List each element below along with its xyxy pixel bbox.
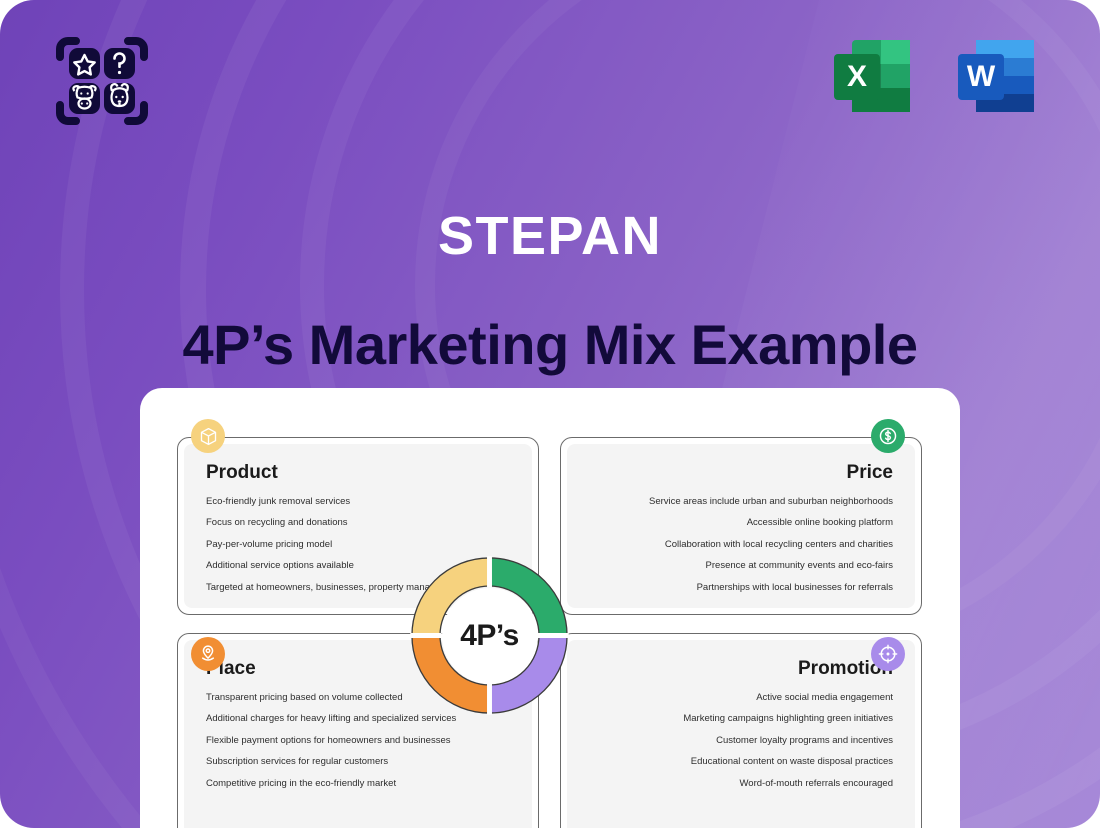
svg-text:W: W [967,60,996,93]
package-box-icon[interactable] [191,419,225,453]
list-item: Marketing campaigns highlighting green i… [589,713,893,725]
quadrant-list-price: Service areas include urban and suburban… [589,496,893,593]
list-item: Collaboration with local recycling cente… [589,539,893,551]
dollar-coin-icon[interactable] [871,419,905,453]
list-item: Partnerships with local businesses for r… [589,582,893,594]
four-p-donut-chart: 4P’s [407,553,572,718]
four-p-matrix: Product Eco-friendly junk removal servic… [140,388,960,828]
list-item: Eco-friendly junk removal services [206,496,510,508]
list-item: Flexible payment options for homeowners … [206,735,510,747]
quadrant-title-price: Price [589,462,893,484]
word-icon[interactable]: W [948,28,1044,124]
list-item: Educational content on waste disposal pr… [589,756,893,768]
quadrant-title-promotion: Promotion [589,658,893,680]
donut-center-label: 4P’s [442,588,538,684]
list-item: Service areas include urban and suburban… [589,496,893,508]
list-item: Active social media engagement [589,692,893,704]
diagram-card: Product Eco-friendly junk removal servic… [140,388,960,828]
office-app-icons: X W [824,28,1044,124]
list-item: Competitive pricing in the eco-friendly … [206,778,510,790]
quadrant-promotion[interactable]: Promotion Active social media engagement… [560,633,922,828]
list-item: Accessible online booking platform [589,517,893,529]
svg-text:X: X [847,60,867,93]
brand-logo [52,31,152,131]
location-pin-icon[interactable] [191,637,225,671]
brand-name: STEPAN [0,205,1100,267]
slide-page: X W STEPAN 4P’s Marketing Mix Example Pr… [0,0,1100,828]
list-item: Customer loyalty programs and incentives [589,735,893,747]
list-item: Presence at community events and eco-fai… [589,560,893,572]
quadrant-title-product: Product [206,462,510,484]
quadrant-list-promotion: Active social media engagement Marketing… [589,692,893,789]
quadrant-price[interactable]: Price Service areas include urban and su… [560,437,922,615]
crosshair-target-icon[interactable] [871,637,905,671]
list-item: Subscription services for regular custom… [206,756,510,768]
list-item: Word-of-mouth referrals encouraged [589,778,893,790]
list-item: Pay-per-volume pricing model [206,539,510,551]
page-title: 4P’s Marketing Mix Example [0,312,1100,377]
excel-icon[interactable]: X [824,28,920,124]
list-item: Focus on recycling and donations [206,517,510,529]
